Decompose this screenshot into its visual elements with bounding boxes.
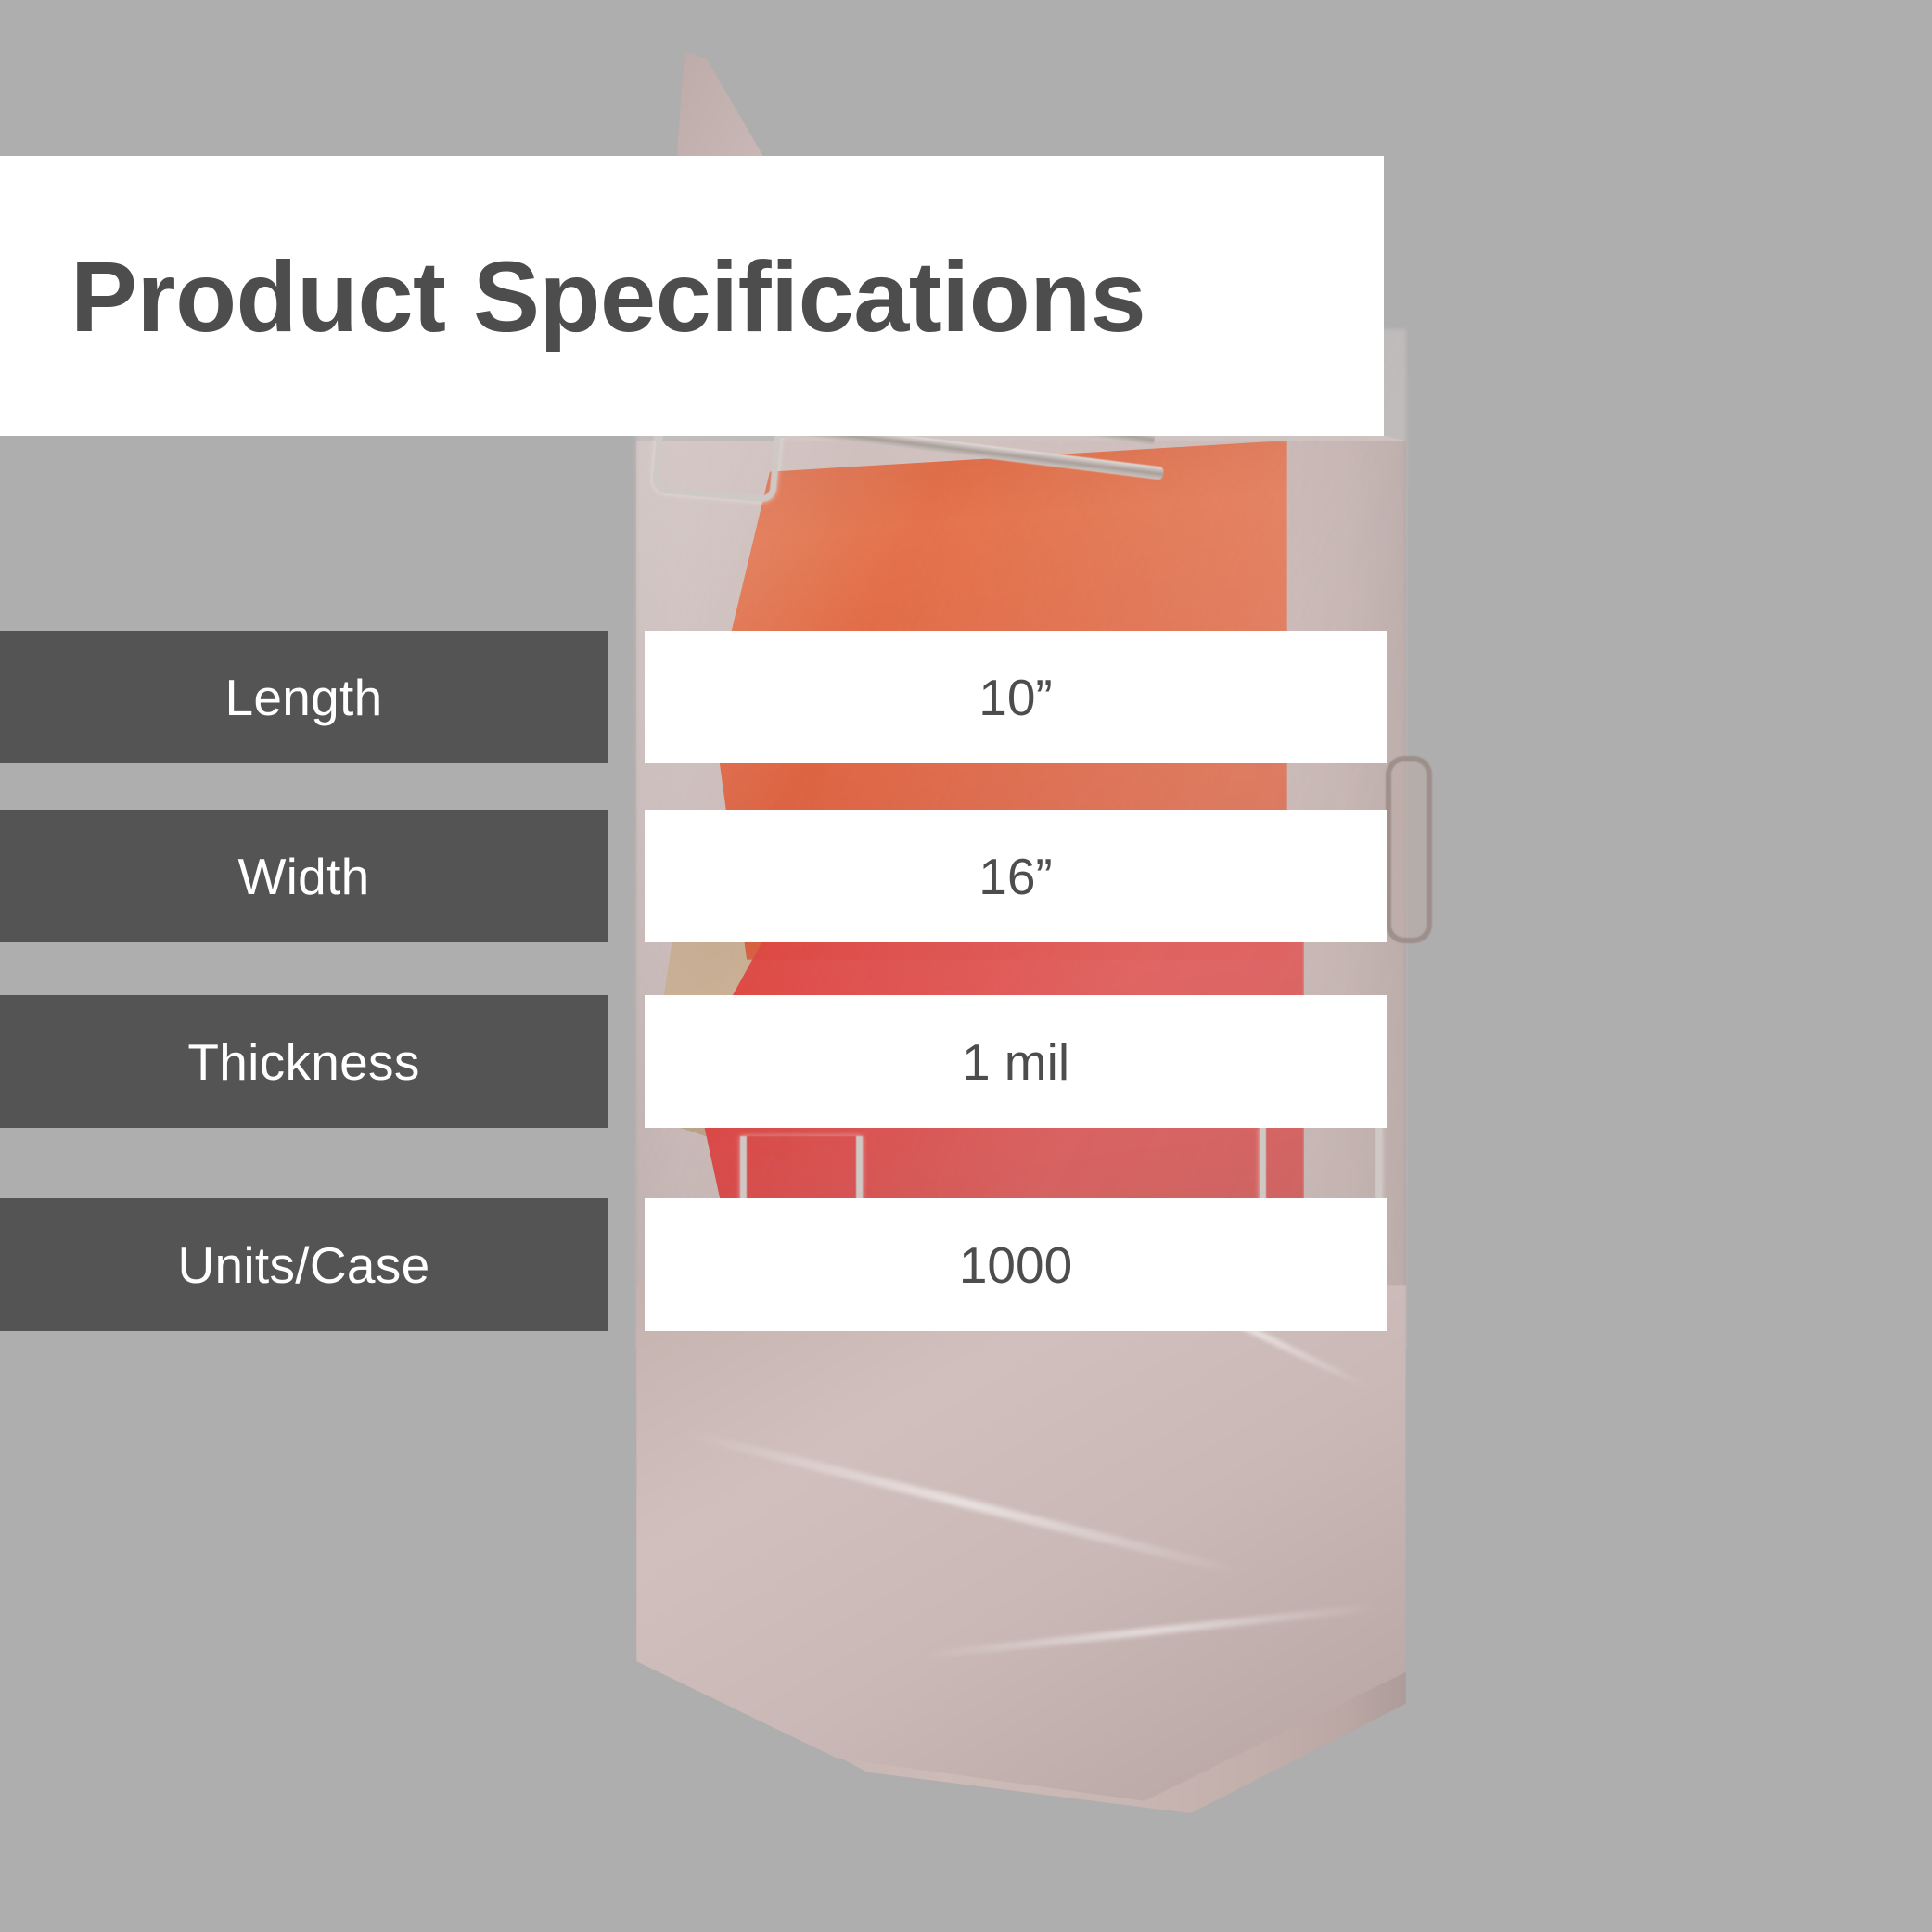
spec-row-width: Width 16” <box>0 810 1387 942</box>
spec-label-units-per-case: Units/Case <box>0 1198 608 1331</box>
spec-row-units-per-case: Units/Case 1000 <box>0 1198 1387 1331</box>
spec-label-thickness: Thickness <box>0 995 608 1128</box>
spec-value-thickness: 1 mil <box>645 995 1387 1128</box>
spec-label-width: Width <box>0 810 608 942</box>
bag-carry-slot <box>1386 756 1432 943</box>
product-specifications-graphic: Product Specifications Length 10” Width … <box>0 0 1932 1932</box>
title-banner: Product Specifications <box>0 156 1384 436</box>
spec-value-width: 16” <box>645 810 1387 942</box>
spec-value-length: 10” <box>645 631 1387 763</box>
spec-label-length: Length <box>0 631 608 763</box>
spec-row-thickness: Thickness 1 mil <box>0 995 1387 1128</box>
page-title: Product Specifications <box>70 238 1145 354</box>
spec-value-units-per-case: 1000 <box>645 1198 1387 1331</box>
spec-row-length: Length 10” <box>0 631 1387 763</box>
